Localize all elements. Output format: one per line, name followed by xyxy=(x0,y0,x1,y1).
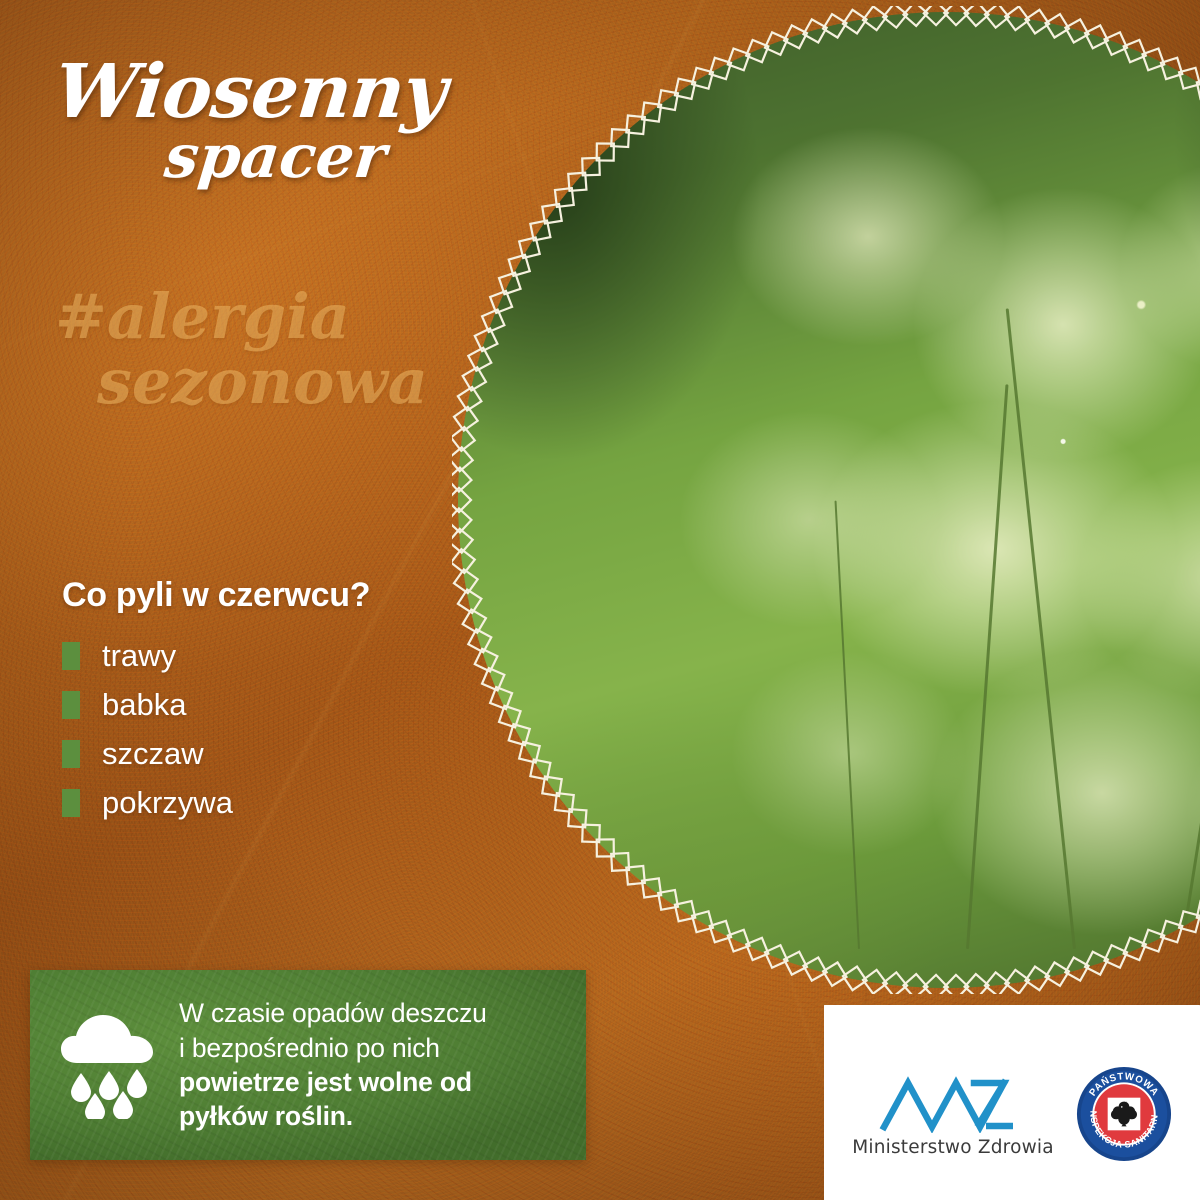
title-line-2: spacer xyxy=(162,130,488,185)
rain-cloud-icon xyxy=(57,1007,161,1124)
mz-zigzag-icon xyxy=(878,1071,1028,1133)
tip-text: W czasie opadów deszczu i bezpośrednio p… xyxy=(179,996,487,1134)
grass-stems xyxy=(458,12,1200,988)
hashtag-line-2: sezonowa xyxy=(97,353,485,412)
list-item-label: szczaw xyxy=(102,736,204,772)
square-bullet-icon xyxy=(62,789,80,817)
page-title: Wiosenny spacer xyxy=(55,58,485,185)
list-item-label: babka xyxy=(102,687,186,723)
pollen-list: trawy babka szczaw pokrzywa xyxy=(62,632,233,828)
list-item: babka xyxy=(62,681,233,729)
sanitary-inspection-seal: PAŃSTWOWA INSPEKCJA SANITARNA xyxy=(1076,1066,1172,1162)
list-item: szczaw xyxy=(62,730,233,778)
square-bullet-icon xyxy=(62,691,80,719)
square-bullet-icon xyxy=(62,740,80,768)
tip-line-4: pyłków roślin. xyxy=(179,1099,487,1133)
tip-line-3: powietrze jest wolne od xyxy=(179,1065,487,1099)
tip-box: W czasie opadów deszczu i bezpośrednio p… xyxy=(30,970,586,1160)
logo-panel: Ministerstwo Zdrowia PAŃSTWOWA xyxy=(824,1006,1200,1200)
ministry-name: Ministerstwo Zdrowia xyxy=(852,1137,1054,1158)
ministry-of-health-logo: Ministerstwo Zdrowia xyxy=(852,1071,1054,1158)
list-item: pokrzywa xyxy=(62,779,233,827)
hashtag-block: #alergia sezonowa xyxy=(55,288,485,412)
section-heading: Co pyli w czerwcu? xyxy=(62,576,370,615)
list-item-label: pokrzywa xyxy=(102,785,233,821)
hashtag-line-1: #alergia xyxy=(55,288,485,347)
grass-photo-circle xyxy=(458,12,1200,988)
square-bullet-icon xyxy=(62,642,80,670)
tip-line-2: i bezpośrednio po nich xyxy=(179,1031,487,1065)
list-item-label: trawy xyxy=(102,638,176,674)
poster-root: Wiosenny spacer #alergia sezonowa Co pyl… xyxy=(0,0,1200,1200)
list-item: trawy xyxy=(62,632,233,680)
tip-line-1: W czasie opadów deszczu xyxy=(179,996,487,1030)
title-line-1: Wiosenny xyxy=(51,58,488,126)
